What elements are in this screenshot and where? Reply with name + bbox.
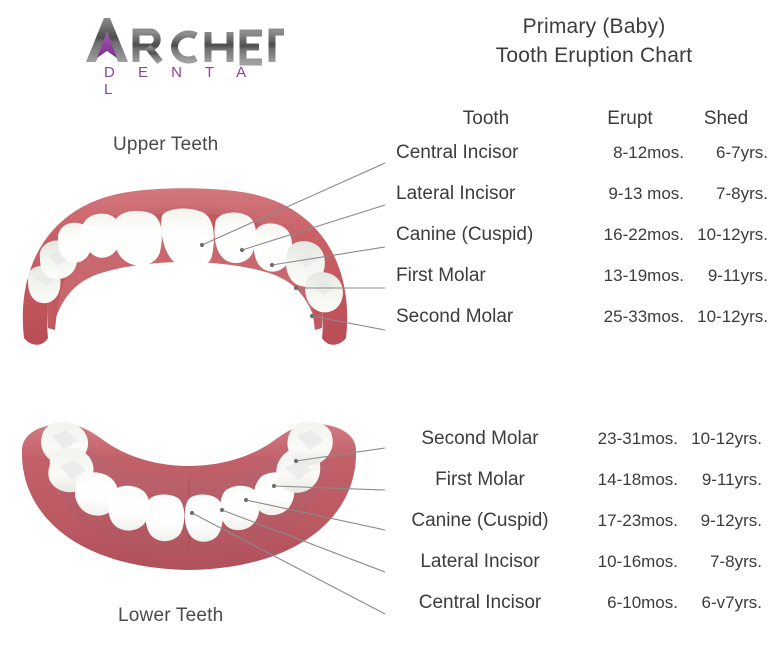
cell-erupt-age: 13-19mos. [576,266,684,286]
table-row: Central Incisor 6-10mos. 6-v7yrs. [390,592,768,633]
cell-erupt-age: 6-10mos. [570,593,678,613]
cell-tooth-name: First Molar [390,469,570,491]
cell-erupt-age: 8-12mos. [576,143,684,163]
cell-erupt-age: 14-18mos. [570,470,678,490]
table-header-row: Tooth Erupt Shed [396,108,768,142]
cell-erupt-age: 23-31mos. [570,429,678,449]
cell-erupt-age: 17-23mos. [570,511,678,531]
table-row: Canine (Cuspid) 16-22mos. 10-12yrs. [396,224,768,265]
cell-shed-age: 9-11yrs. [684,266,768,286]
cell-tooth-name: Canine (Cuspid) [396,224,576,246]
cell-shed-age: 6-7yrs. [684,143,768,163]
archer-arrow-logo-icon [44,14,284,66]
cell-shed-age: 7-8yrs. [678,552,762,572]
cell-erupt-age: 25-33mos. [576,307,684,327]
table-row: Second Molar 25-33mos. 10-12yrs. [396,306,768,347]
cell-shed-age: 9-12yrs. [678,511,762,531]
cell-tooth-name: Central Incisor [390,592,570,614]
table-row: First Molar 14-18mos. 9-11yrs. [390,469,768,510]
cell-tooth-name: Canine (Cuspid) [390,510,570,532]
cell-shed-age: 6-v7yrs. [678,593,762,613]
cell-erupt-age: 16-22mos. [576,225,684,245]
page-title: Primary (Baby) Tooth Eruption Chart [420,12,768,70]
cell-tooth-name: Second Molar [390,428,570,450]
cell-erupt-age: 10-16mos. [570,552,678,572]
cell-shed-age: 10-12yrs. [684,307,768,327]
column-header-erupt: Erupt [576,108,684,130]
cell-tooth-name: First Molar [396,265,576,287]
table-row: Lateral Incisor 10-16mos. 7-8yrs. [390,551,768,592]
archer-dental-logo[interactable]: D E N T A L [44,14,284,84]
upper-teeth-table: Tooth Erupt Shed Central Incisor 8-12mos… [396,108,768,347]
upper-teeth-label: Upper Teeth [113,134,218,156]
logo-subtitle: D E N T A L [104,64,284,98]
table-row: First Molar 13-19mos. 9-11yrs. [396,265,768,306]
lower-teeth-label: Lower Teeth [118,605,223,627]
column-header-tooth: Tooth [396,108,576,130]
table-row: Central Incisor 8-12mos. 6-7yrs. [396,142,768,183]
table-row: Second Molar 23-31mos. 10-12yrs. [390,428,768,469]
page-title-line2: Tooth Eruption Chart [420,41,768,70]
lower-dental-arch-photo [14,392,364,592]
cell-tooth-name: Central Incisor [396,142,576,164]
column-header-shed: Shed [684,108,768,130]
table-row: Lateral Incisor 9-13 mos. 7-8yrs. [396,183,768,224]
tooth-eruption-chart-page: D E N T A L Primary (Baby) Tooth Eruptio… [0,0,768,653]
lower-teeth-table: Second Molar 23-31mos. 10-12yrs. First M… [390,428,768,633]
cell-shed-age: 9-11yrs. [678,470,762,490]
cell-tooth-name: Second Molar [396,306,576,328]
table-row: Canine (Cuspid) 17-23mos. 9-12yrs. [390,510,768,551]
cell-tooth-name: Lateral Incisor [396,183,576,205]
cell-tooth-name: Lateral Incisor [390,551,570,573]
cell-shed-age: 10-12yrs. [684,225,768,245]
page-title-line1: Primary (Baby) [420,12,768,41]
upper-dental-arch-photo [10,178,360,353]
cell-shed-age: 10-12yrs. [678,429,762,449]
cell-shed-age: 7-8yrs. [684,184,768,204]
cell-erupt-age: 9-13 mos. [576,184,684,204]
